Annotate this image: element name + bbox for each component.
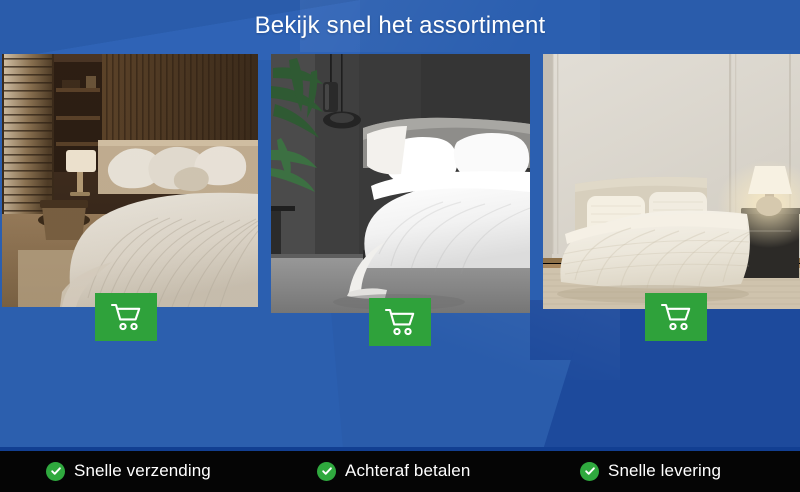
- shopping-cart-icon: [109, 302, 143, 332]
- feature-label: Snelle verzending: [74, 461, 211, 481]
- shopping-cart-icon: [383, 307, 417, 337]
- feature-item-delivery: Snelle levering: [580, 450, 721, 492]
- product-tile-2[interactable]: [271, 54, 530, 313]
- feature-item-payment: Achteraf betalen: [317, 450, 470, 492]
- banner-header: Bekijk snel het assortiment: [0, 0, 800, 52]
- footer-divider: [0, 447, 800, 451]
- feature-label: Snelle levering: [608, 461, 721, 481]
- check-circle-icon: [580, 462, 599, 481]
- add-to-cart-button-3[interactable]: [645, 293, 707, 341]
- product-tile-3[interactable]: [543, 54, 800, 309]
- product-image-3: [543, 54, 800, 309]
- add-to-cart-button-2[interactable]: [369, 298, 431, 346]
- feature-bar: Snelle verzending Achteraf betalen Snell…: [0, 450, 800, 492]
- promo-banner: Bekijk snel het assortiment: [0, 0, 800, 492]
- page-title: Bekijk snel het assortiment: [255, 12, 546, 40]
- product-image-2: [271, 54, 530, 313]
- add-to-cart-button-1[interactable]: [95, 293, 157, 341]
- product-image-1: [2, 54, 258, 307]
- feature-item-shipping: Snelle verzending: [46, 450, 211, 492]
- feature-label: Achteraf betalen: [345, 461, 470, 481]
- check-circle-icon: [46, 462, 65, 481]
- check-circle-icon: [317, 462, 336, 481]
- product-tile-1[interactable]: [2, 54, 258, 307]
- shopping-cart-icon: [659, 302, 693, 332]
